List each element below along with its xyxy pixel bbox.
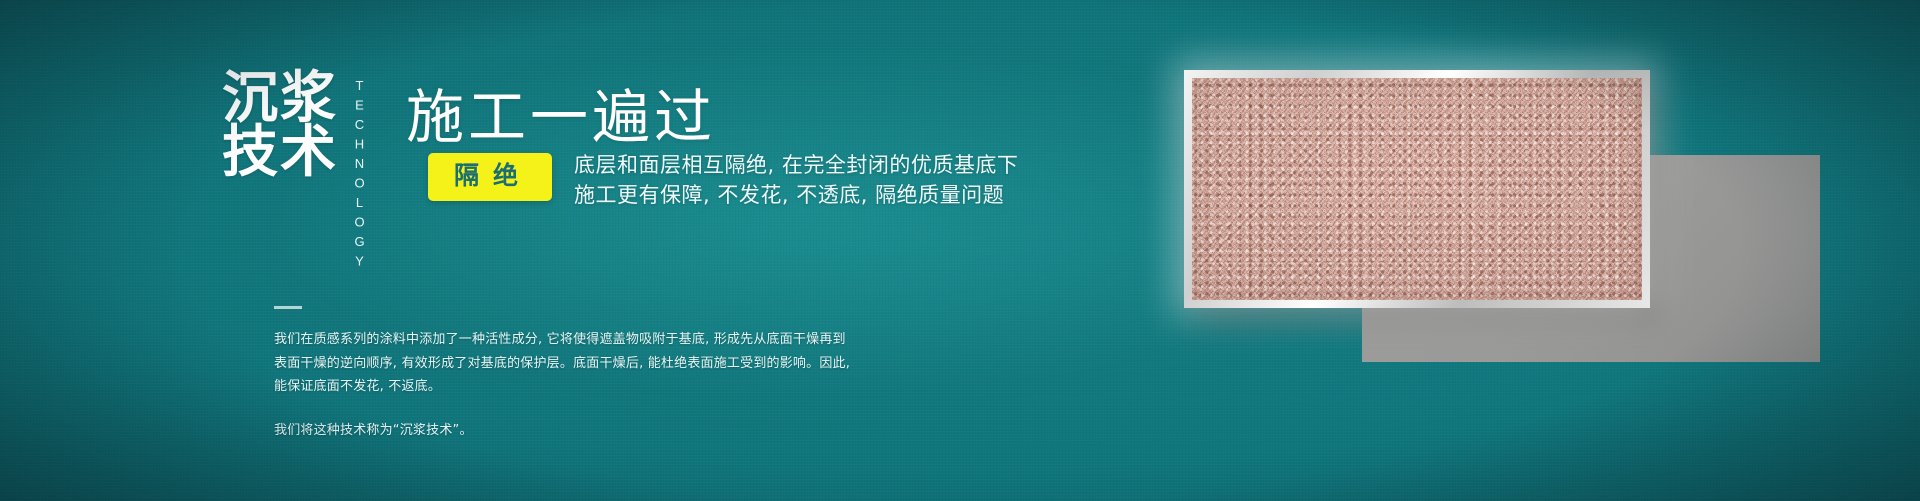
page-title: 施工一遍过 [406, 70, 716, 154]
subtitle-row: 隔绝 底层和面层相互隔绝, 在完全封闭的优质基底下 施工更有保障, 不发花, 不… [428, 153, 1018, 211]
divider [274, 306, 302, 309]
product-texture-photo [1192, 78, 1642, 300]
brand-logo-chinese: 沉浆 技术 [222, 72, 338, 180]
promo-banner: 沉浆 技术 TECHNOLOGY 施工一遍过 隔绝 底层和面层相互隔绝, 在完全… [0, 0, 1920, 501]
brand-logo-english: TECHNOLOGY [352, 78, 367, 182]
subtitle-line-1: 底层和面层相互隔绝, 在完全封闭的优质基底下 [574, 151, 1018, 181]
content-column: 沉浆 技术 TECHNOLOGY 施工一遍过 隔绝 底层和面层相互隔绝, 在完全… [0, 0, 1100, 501]
brand-logo: 沉浆 技术 TECHNOLOGY [222, 72, 367, 182]
subtitle-text: 底层和面层相互隔绝, 在完全封闭的优质基底下 施工更有保障, 不发花, 不透底,… [574, 151, 1018, 211]
body-paragraph-2: 我们将这种技术称为“沉浆技术”。 [274, 419, 854, 443]
body-paragraph-1: 我们在质感系列的涂料中添加了一种活性成分, 它将使得遮盖物吸附于基底, 形成先从… [274, 328, 854, 399]
brand-logo-line2: 技术 [222, 126, 338, 180]
status-badge: 隔绝 [428, 153, 552, 201]
brand-logo-line1: 沉浆 [222, 72, 338, 126]
subtitle-line-2: 施工更有保障, 不发花, 不透底, 隔绝质量问题 [574, 181, 1018, 211]
media-column [1100, 0, 1920, 501]
body-copy: 我们在质感系列的涂料中添加了一种活性成分, 它将使得遮盖物吸附于基底, 形成先从… [274, 328, 854, 443]
photo-frame [1184, 70, 1650, 308]
